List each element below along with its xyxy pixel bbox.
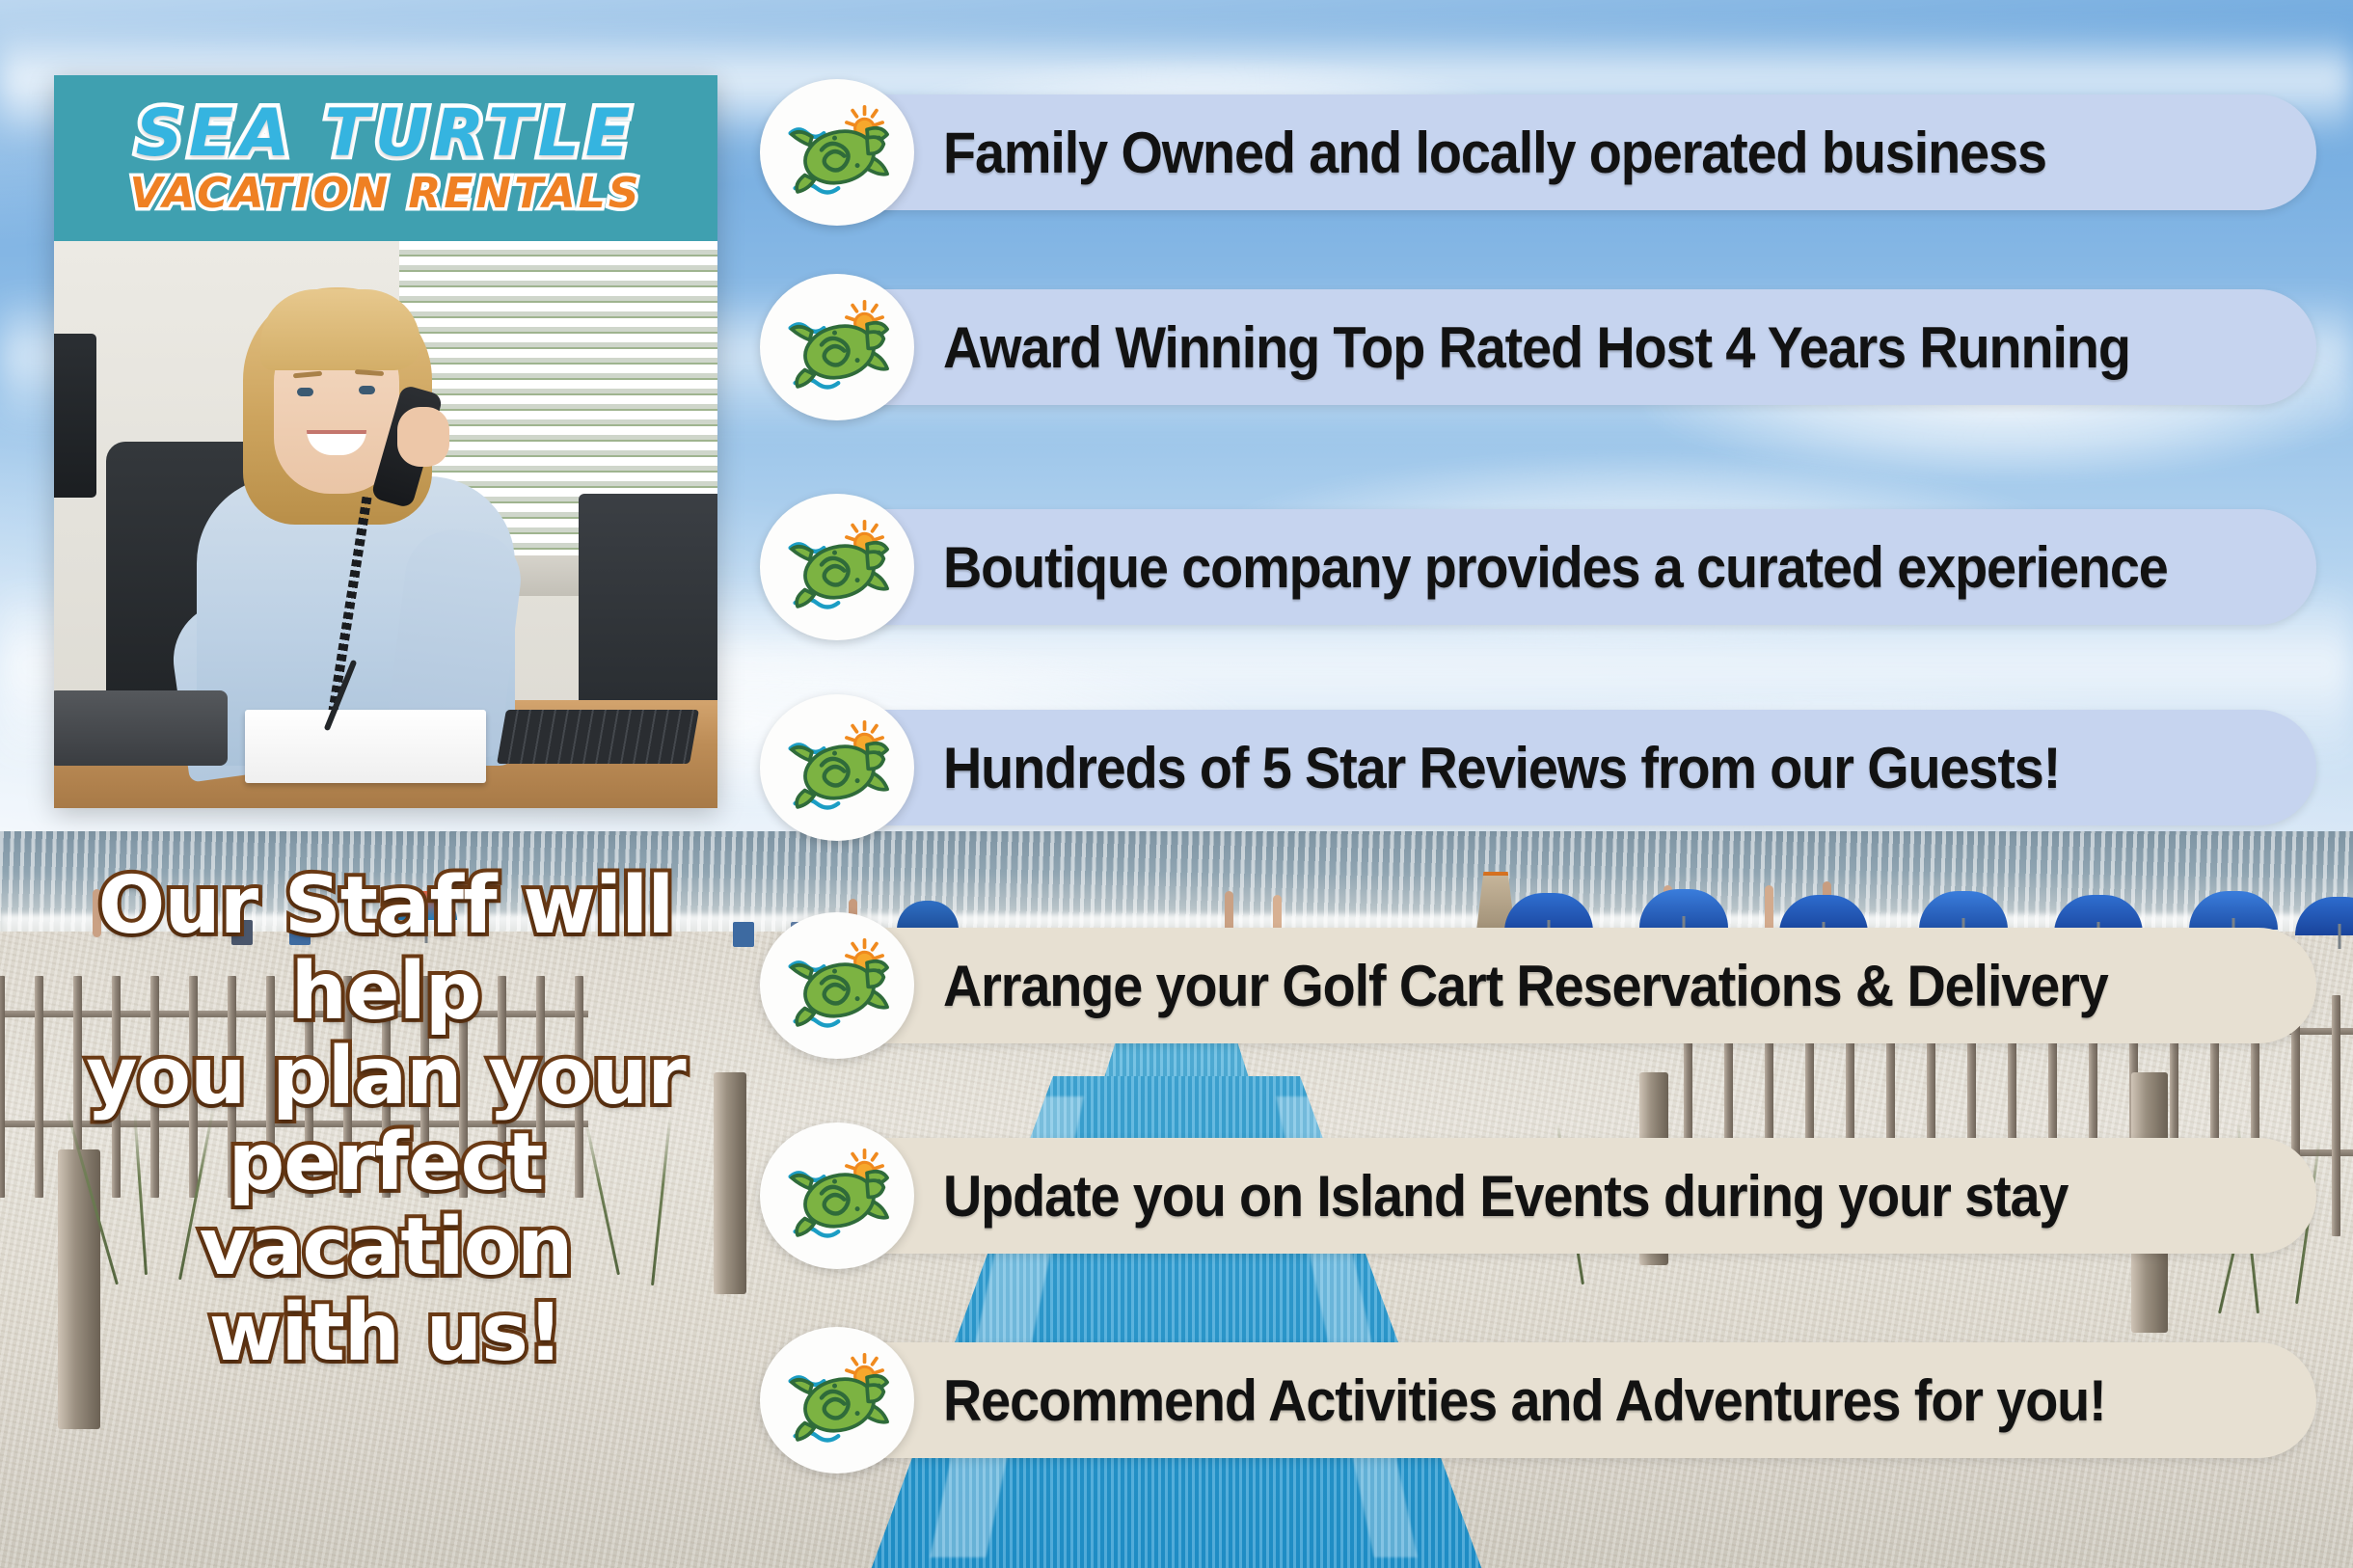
headline-line-4: with us! xyxy=(39,1291,733,1377)
sea-turtle-icon xyxy=(760,79,914,226)
feature-label: Family Owned and locally operated busine… xyxy=(943,120,2046,186)
logo-title: SEA TURTLE xyxy=(136,101,636,167)
agent-photo xyxy=(54,241,717,808)
feature-label: Boutique company provides a curated expe… xyxy=(943,534,2168,601)
sea-turtle-icon xyxy=(760,694,914,841)
headline-line-1: Our Staff will help xyxy=(39,864,733,1035)
feature-row-award-winning[interactable]: Award Winning Top Rated Host 4 Years Run… xyxy=(760,289,2316,405)
feature-row-recommendations[interactable]: Recommend Activities and Adventures for … xyxy=(760,1342,2316,1458)
feature-label: Update you on Island Events during your … xyxy=(943,1163,2068,1230)
sea-turtle-icon xyxy=(760,274,914,420)
feature-label: Arrange your Golf Cart Reservations & De… xyxy=(943,953,2108,1019)
headline-line-2: you plan your xyxy=(39,1035,733,1121)
sea-turtle-icon xyxy=(760,1327,914,1473)
sea-turtle-icon xyxy=(760,912,914,1059)
feature-label: Recommend Activities and Adventures for … xyxy=(943,1367,2106,1434)
feature-row-family-owned[interactable]: Family Owned and locally operated busine… xyxy=(760,95,2316,210)
brand-logo-card: SEA TURTLE VACATION RENTALS xyxy=(54,75,717,808)
sea-turtle-icon xyxy=(760,1122,914,1269)
feature-row-golf-cart[interactable]: Arrange your Golf Cart Reservations & De… xyxy=(760,928,2316,1043)
headline-line-3: perfect vacation xyxy=(39,1121,733,1291)
feature-row-boutique-company[interactable]: Boutique company provides a curated expe… xyxy=(760,509,2316,625)
feature-row-island-events[interactable]: Update you on Island Events during your … xyxy=(760,1138,2316,1254)
keyboard-icon xyxy=(497,710,699,764)
logo-banner: SEA TURTLE VACATION RENTALS xyxy=(54,75,717,241)
feature-label: Hundreds of 5 Star Reviews from our Gues… xyxy=(943,735,2060,801)
sea-turtle-icon xyxy=(760,494,914,640)
feature-row-five-star-reviews[interactable]: Hundreds of 5 Star Reviews from our Gues… xyxy=(760,710,2316,825)
desk-phone-icon xyxy=(54,690,228,766)
monitor-left xyxy=(54,334,96,498)
feature-label: Award Winning Top Rated Host 4 Years Run… xyxy=(943,314,2130,381)
logo-subtitle: VACATION RENTALS xyxy=(130,173,642,215)
promotional-poster: SEA TURTLE VACATION RENTALS xyxy=(0,0,2353,1568)
staff-headline: Our Staff will help you plan your perfec… xyxy=(39,864,733,1376)
notepad xyxy=(245,710,486,783)
